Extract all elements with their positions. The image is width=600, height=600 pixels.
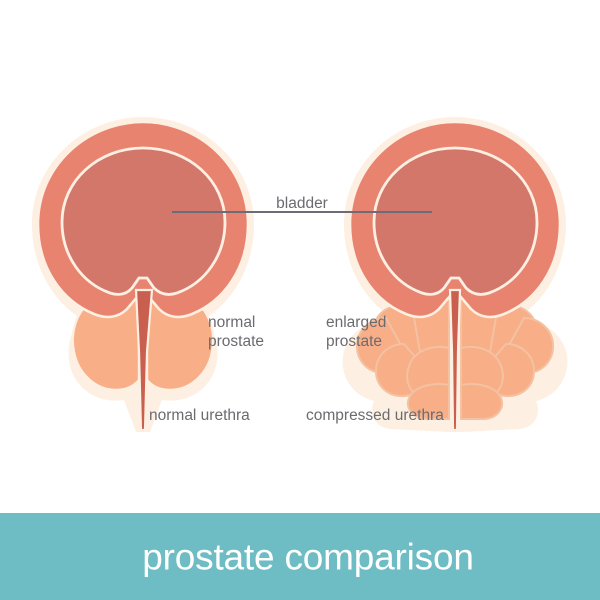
banner-title-text: prostate comparison	[0, 538, 600, 575]
right-prostate-label-line1: enlarged	[326, 314, 386, 331]
prostate-comparison-figure: normal prostate normal urethra	[0, 0, 600, 600]
left-prostate-label-line1: normal	[208, 314, 255, 331]
left-bladder-inner-lumen	[62, 148, 225, 294]
left-normal-anatomy-group: normal prostate normal urethra	[32, 117, 264, 432]
right-prostate-label-line2: prostate	[326, 333, 382, 350]
left-urethra-label: normal urethra	[149, 407, 250, 424]
right-bladder-inner-lumen	[374, 148, 537, 294]
title-banner: prostate comparison	[0, 513, 600, 600]
bladder-label: bladder	[276, 195, 328, 212]
right-urethra-label: compressed urethra	[306, 407, 444, 424]
right-enlarged-anatomy-group: enlarged prostate compressed urethra	[306, 117, 567, 432]
left-prostate-label-line2: prostate	[208, 333, 264, 350]
anatomy-diagram: normal prostate normal urethra	[0, 0, 600, 600]
